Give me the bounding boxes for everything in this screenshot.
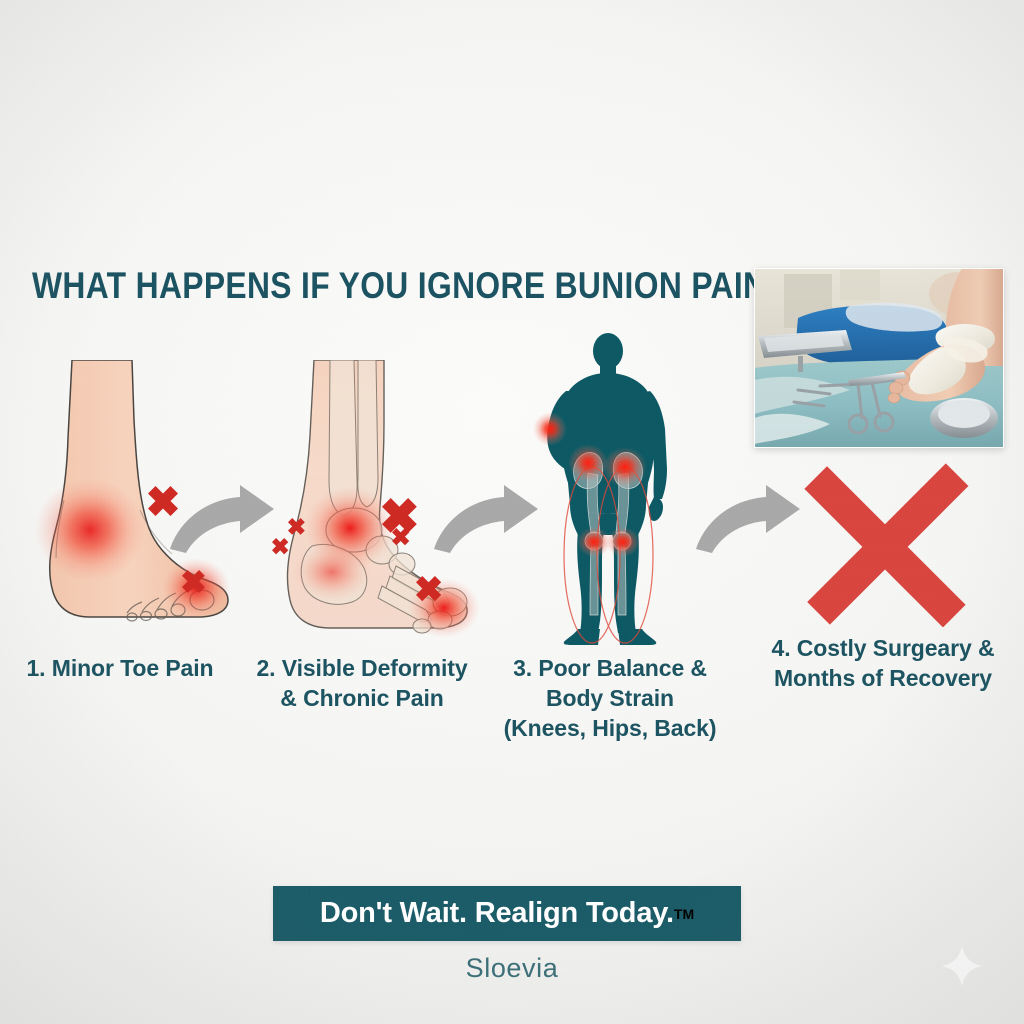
sparkle-star-icon (940, 944, 984, 988)
stage-4-illustration (795, 462, 975, 627)
stage-1-caption: 1. Minor Toe Pain (8, 653, 232, 683)
infographic-poster: WHAT HAPPENS IF YOU IGNORE BUNION PAIN? (0, 0, 1024, 1024)
pain-glow-elbow (533, 412, 567, 446)
pain-glow-knee-right (606, 527, 640, 557)
surgery-bandaged-foot-photo (754, 268, 1004, 448)
cta-banner[interactable]: Don't Wait. Realign Today.TM (273, 886, 741, 941)
brand-name: Sloevia (0, 953, 1024, 984)
trademark-symbol: TM (674, 906, 694, 922)
stage-3-caption: 3. Poor Balance & Body Strain (Knees, Hi… (494, 653, 726, 743)
stage-4-caption: 4. Costly Surgeary & Months of Recovery (754, 633, 1012, 693)
pain-glow-midfoot (292, 542, 372, 602)
stage-3-illustration (508, 333, 708, 645)
pain-glow-hip-left (568, 444, 608, 482)
pain-glow-knee-left (577, 527, 611, 557)
cta-banner-text: Don't Wait. Realign Today. (320, 897, 674, 930)
red-x-marker (272, 538, 288, 554)
arrow-stage-3-to-4 (694, 483, 804, 555)
page-title: WHAT HAPPENS IF YOU IGNORE BUNION PAIN? (32, 265, 634, 309)
pain-glow-bunion (408, 578, 480, 638)
pain-glow-hip-right (603, 447, 647, 487)
stage-2-caption: 2. Visible Deformity & Chronic Pain (240, 653, 484, 713)
red-x-large (804, 463, 968, 627)
pain-glow-ankle (35, 478, 145, 582)
